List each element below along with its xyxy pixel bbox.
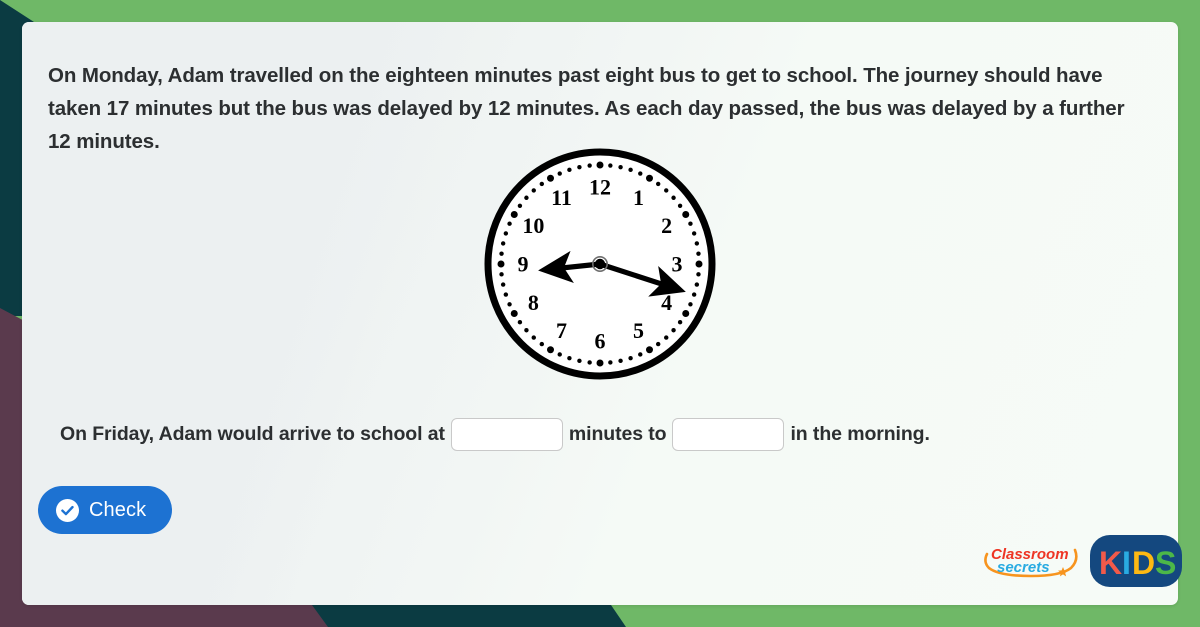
star-icon: [1058, 567, 1068, 576]
secrets-wordmark: secrets: [997, 559, 1050, 576]
clock-numeral-11: 11: [551, 185, 572, 210]
kids-letter-i: I: [1122, 545, 1131, 581]
clock-numeral-9: 9: [518, 252, 529, 277]
clock-numeral-4: 4: [661, 290, 672, 315]
clock-container: 121234567891011: [22, 142, 1178, 386]
answer-sentence: On Friday, Adam would arrive to school a…: [60, 418, 930, 451]
brand-logo: Classroom secrets K I D S: [981, 535, 1182, 587]
hour-answer-input[interactable]: [672, 418, 784, 451]
kids-letter-k: K: [1099, 545, 1122, 581]
clock-numeral-1: 1: [633, 185, 644, 210]
clock-numeral-7: 7: [556, 318, 567, 343]
answer-suffix-label: in the morning.: [790, 423, 929, 446]
kids-logo: K I D S: [1090, 535, 1182, 587]
clock-numeral-10: 10: [522, 213, 544, 238]
check-button[interactable]: Check: [38, 486, 172, 534]
kids-letter-d: D: [1132, 545, 1155, 581]
kids-letter-s: S: [1155, 545, 1176, 581]
clock-numeral-5: 5: [633, 318, 644, 343]
activity-card: On Monday, Adam travelled on the eightee…: [22, 22, 1178, 605]
answer-middle-label: minutes to: [569, 423, 667, 446]
classroom-secrets-logo: Classroom secrets: [981, 540, 1081, 582]
clock-numeral-8: 8: [528, 290, 539, 315]
check-button-label: Check: [89, 499, 146, 522]
analogue-clock-face: 121234567891011: [478, 142, 722, 386]
slide-stage: On Monday, Adam travelled on the eightee…: [0, 0, 1200, 627]
minutes-answer-input[interactable]: [451, 418, 563, 451]
check-circle-icon: [56, 499, 79, 522]
answer-prefix-label: On Friday, Adam would arrive to school a…: [60, 423, 445, 446]
clock-centre-pin: [595, 259, 605, 269]
clock-numeral-2: 2: [661, 213, 672, 238]
clock-numeral-6: 6: [595, 329, 606, 354]
clock-numeral-3: 3: [672, 252, 683, 277]
clock-numeral-12: 12: [589, 175, 611, 200]
